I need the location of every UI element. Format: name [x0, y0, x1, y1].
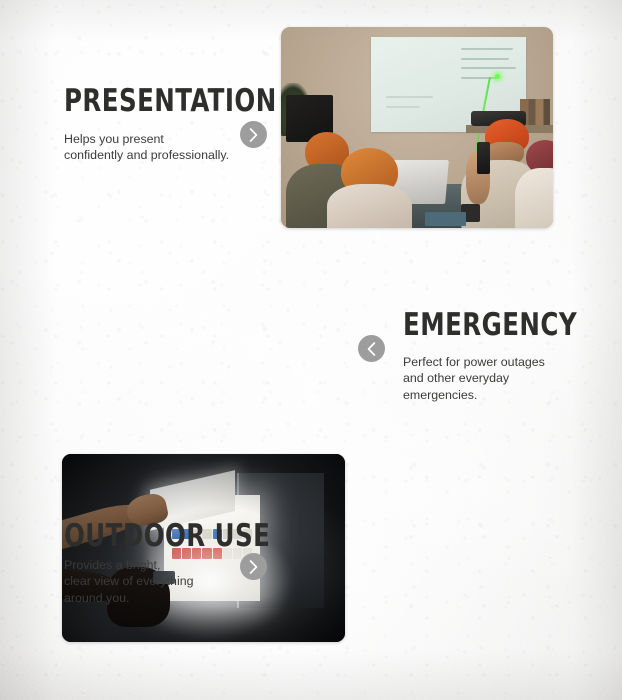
- emergency-prev-arrow-button[interactable]: [358, 335, 385, 362]
- presentation-next-arrow-button[interactable]: [240, 121, 267, 148]
- chevron-right-icon: [249, 560, 258, 574]
- presentation-heading: PRESENTATION: [64, 86, 277, 117]
- handheld-presenter-device: [477, 142, 491, 174]
- person-maroon-beanie-body: [515, 168, 553, 228]
- outdoor-use-next-arrow-button[interactable]: [240, 553, 267, 580]
- chevron-left-icon: [367, 342, 376, 356]
- presentation-body: Helps you present confidently and profes…: [64, 131, 269, 164]
- person-long-hair-woman-body: [327, 184, 411, 228]
- laser-dot: [495, 74, 500, 79]
- feature-panels-page: PRESENTATION Helps you present confident…: [0, 0, 622, 700]
- presentation-scene: [281, 27, 553, 228]
- emergency-body: Perfect for power outages and other ever…: [403, 354, 603, 403]
- outdoor-use-heading: OUTDOOR USE: [64, 521, 270, 552]
- chevron-right-icon: [249, 128, 258, 142]
- emergency-heading: EMERGENCY: [403, 310, 577, 341]
- presentation-image: [281, 27, 553, 228]
- notebook: [425, 212, 466, 226]
